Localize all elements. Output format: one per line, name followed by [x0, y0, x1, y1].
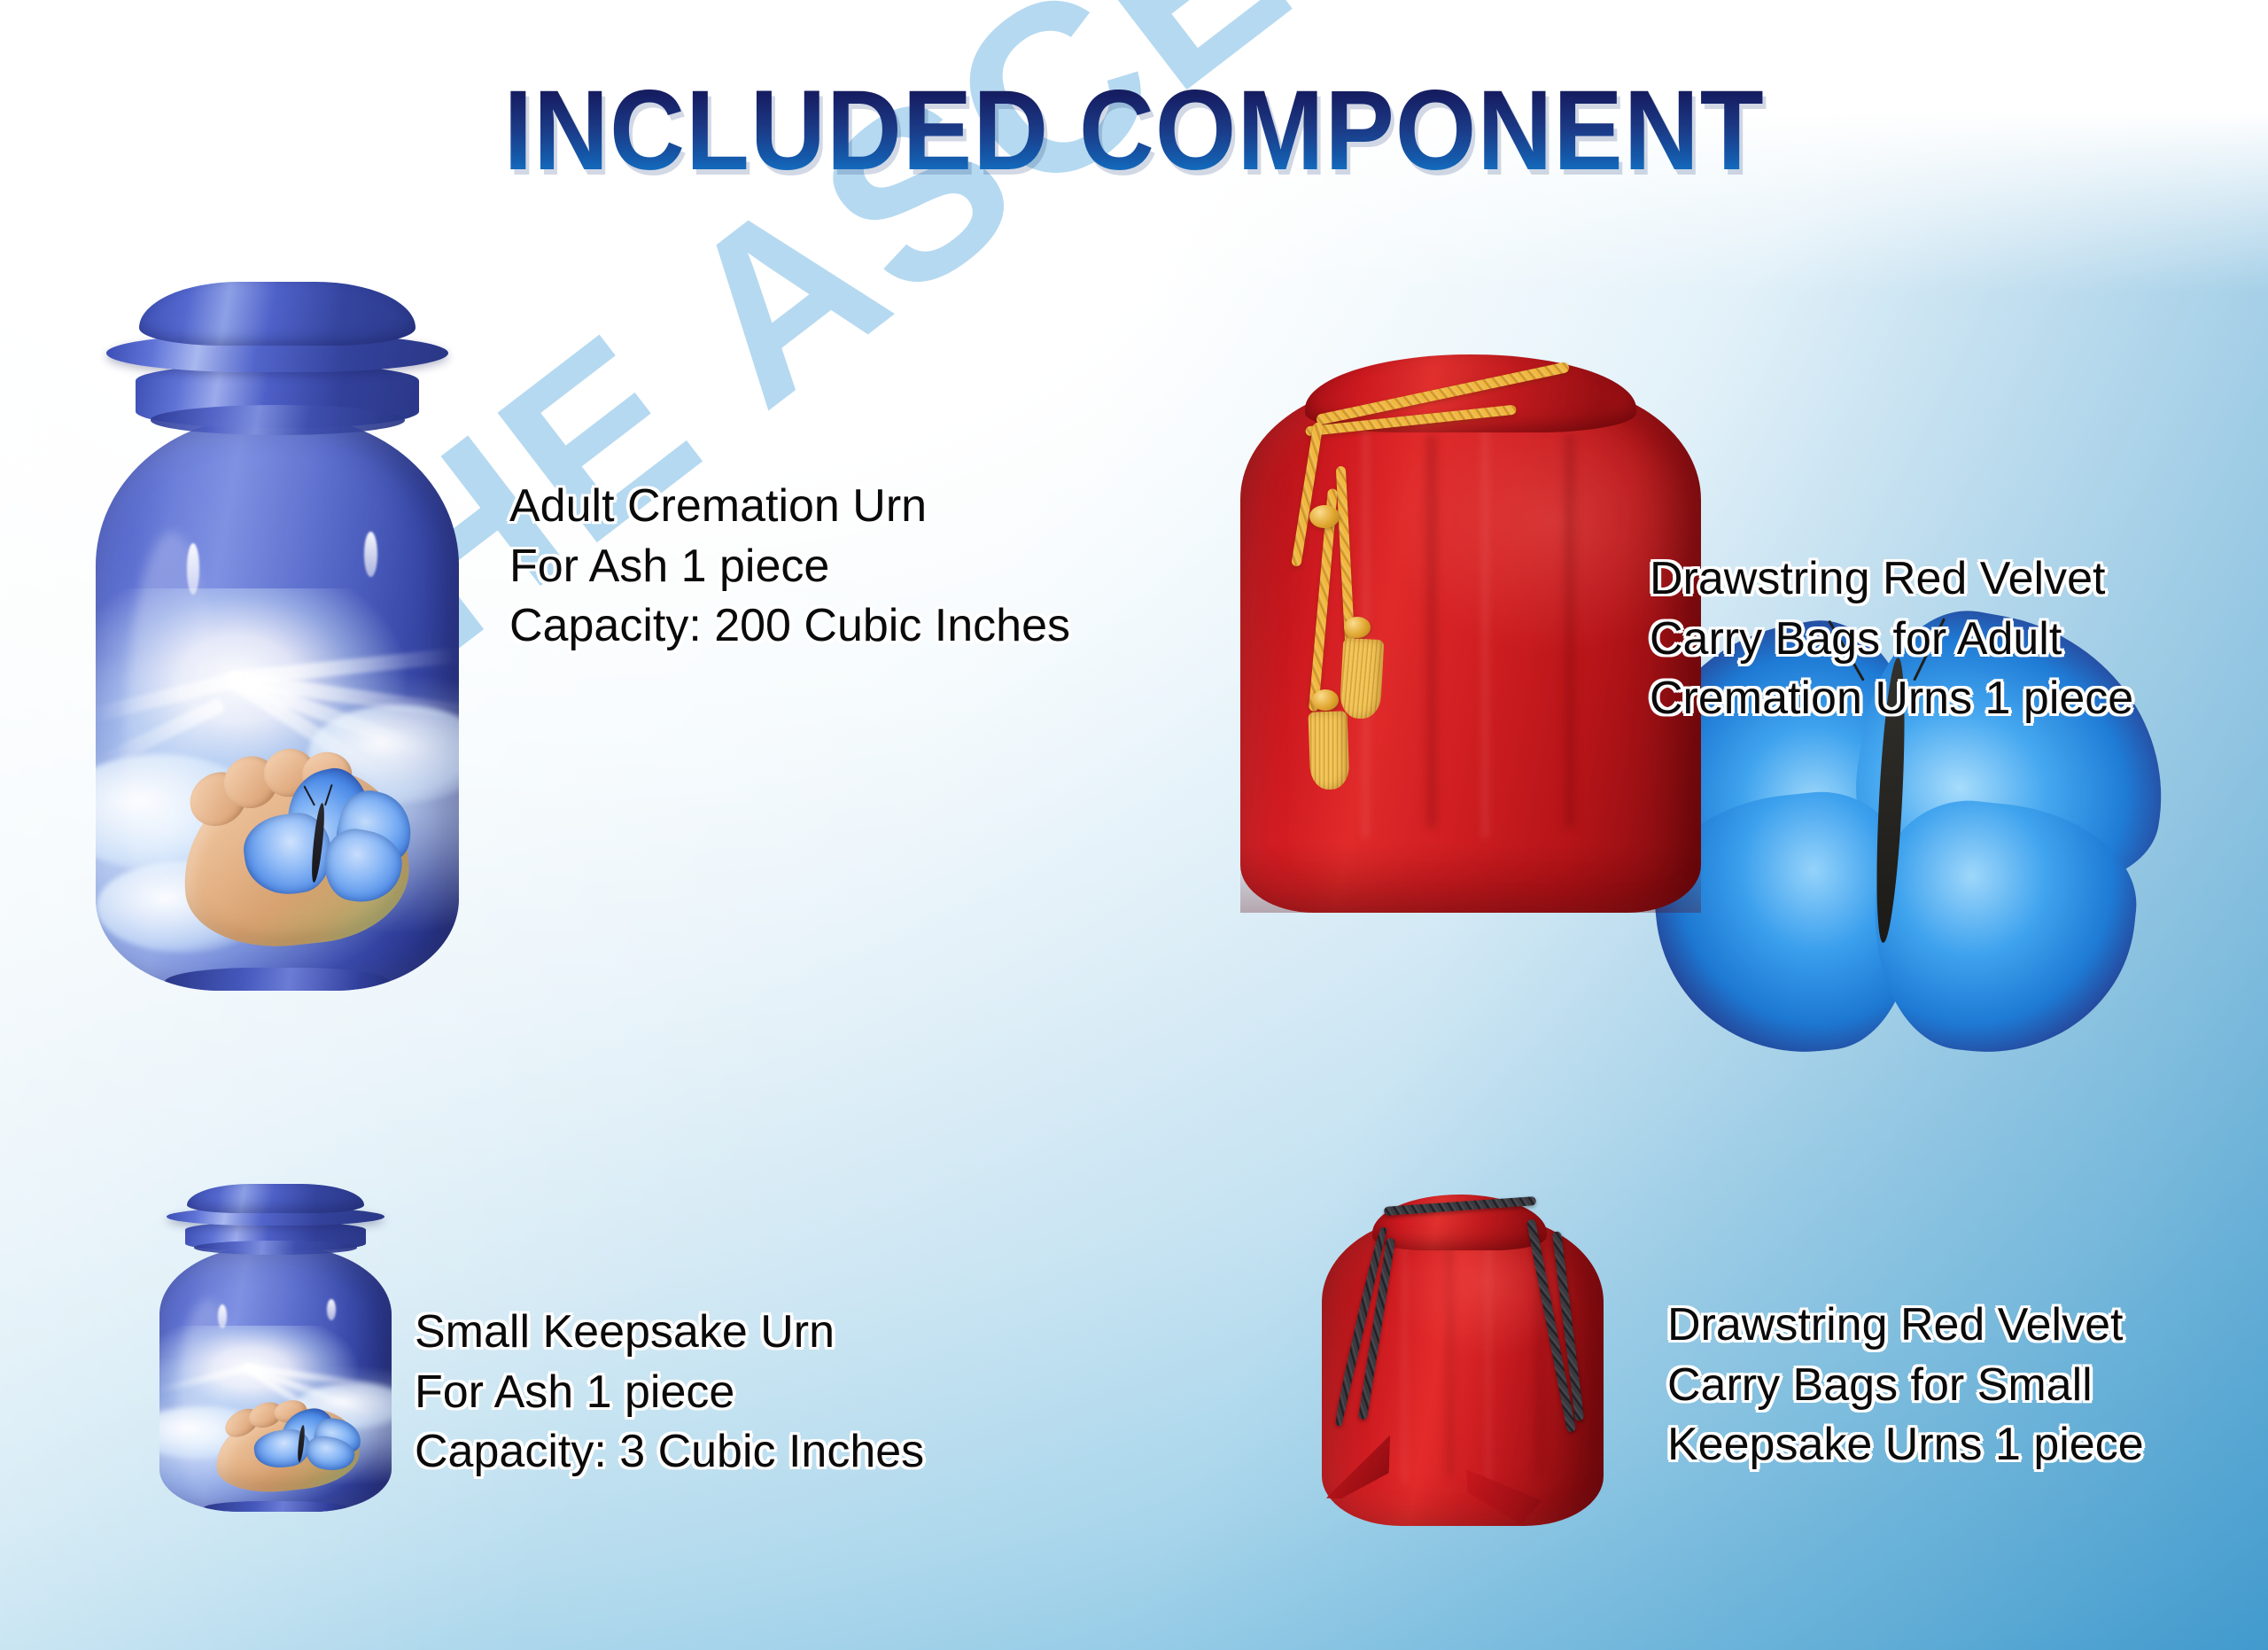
adult-cremation-urn-image [96, 282, 459, 991]
urn-neck-band [151, 405, 405, 435]
urn-body [96, 416, 459, 991]
infographic-canvas: THE ASCENT MEMORIAL INCLUDED COMPONENT I… [0, 0, 2268, 1650]
bag-fold-shadow [1563, 435, 1577, 828]
urn-highlight [364, 532, 377, 578]
cord-tassel [1340, 638, 1385, 720]
urn-highlight [218, 1304, 227, 1328]
urn-base [204, 1501, 347, 1512]
urn-sheen [125, 532, 220, 979]
urn-highlight [187, 543, 200, 595]
bag-fold [1480, 424, 1491, 838]
urn-sheen [178, 1299, 238, 1506]
adult-carry-bag-caption: Drawstring Red Velvet Carry Bags for Adu… [1650, 549, 2133, 729]
keepsake-carry-bag-image [1322, 1198, 1604, 1526]
cord-knot [1312, 689, 1339, 711]
bag-bottom-hem [1240, 844, 1701, 913]
urn-lid [139, 282, 416, 346]
keepsake-carry-bag-caption: Drawstring Red Velvet Carry Bags for Sma… [1667, 1296, 2144, 1475]
bag-fold [1401, 1240, 1408, 1483]
cord-tassel [1308, 711, 1349, 790]
sun-ray [229, 648, 457, 687]
page-title: INCLUDED COMPONENT [90, 74, 2177, 188]
bag-fold-shadow [1425, 435, 1439, 828]
urn-neck-band [194, 1241, 356, 1255]
small-keepsake-urn-image [159, 1184, 392, 1512]
bag-fold [1485, 1240, 1492, 1483]
cord-knot [1309, 505, 1340, 528]
urn-base [165, 968, 390, 991]
butterfly-artwork [234, 778, 408, 916]
urn-lid [187, 1184, 363, 1213]
small-keepsake-urn-caption: Small Keepsake Urn For Ash 1 piece Capac… [415, 1303, 924, 1483]
bag-fold-shadow [1446, 1246, 1455, 1476]
urn-body [159, 1246, 392, 1512]
cord-knot [1344, 617, 1371, 638]
urn-highlight [327, 1299, 336, 1320]
adult-carry-bag-image [1240, 354, 1701, 913]
butterfly-artwork [248, 1413, 360, 1477]
adult-cremation-urn-caption: Adult Cremation Urn For Ash 1 piece Capa… [509, 477, 1070, 657]
